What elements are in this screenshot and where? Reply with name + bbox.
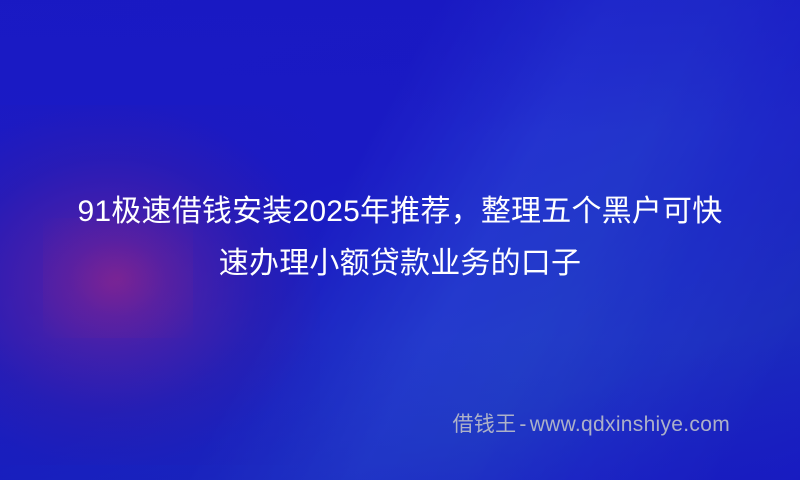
promo-banner: 91极速借钱安装2025年推荐，整理五个黑户可快 速办理小额贷款业务的口子 借钱… <box>0 0 800 480</box>
title-line-2: 速办理小额贷款业务的口子 <box>26 238 774 290</box>
watermark-separator: - <box>516 413 529 436</box>
watermark-url: www.qdxinshiye.com <box>530 413 730 436</box>
page-title: 91极速借钱安装2025年推荐，整理五个黑户可快 速办理小额贷款业务的口子 <box>0 186 800 290</box>
watermark: 借钱王-www.qdxinshiye.com <box>452 412 730 438</box>
title-line-1: 91极速借钱安装2025年推荐，整理五个黑户可快 <box>26 186 774 238</box>
watermark-brand: 借钱王 <box>452 413 516 436</box>
